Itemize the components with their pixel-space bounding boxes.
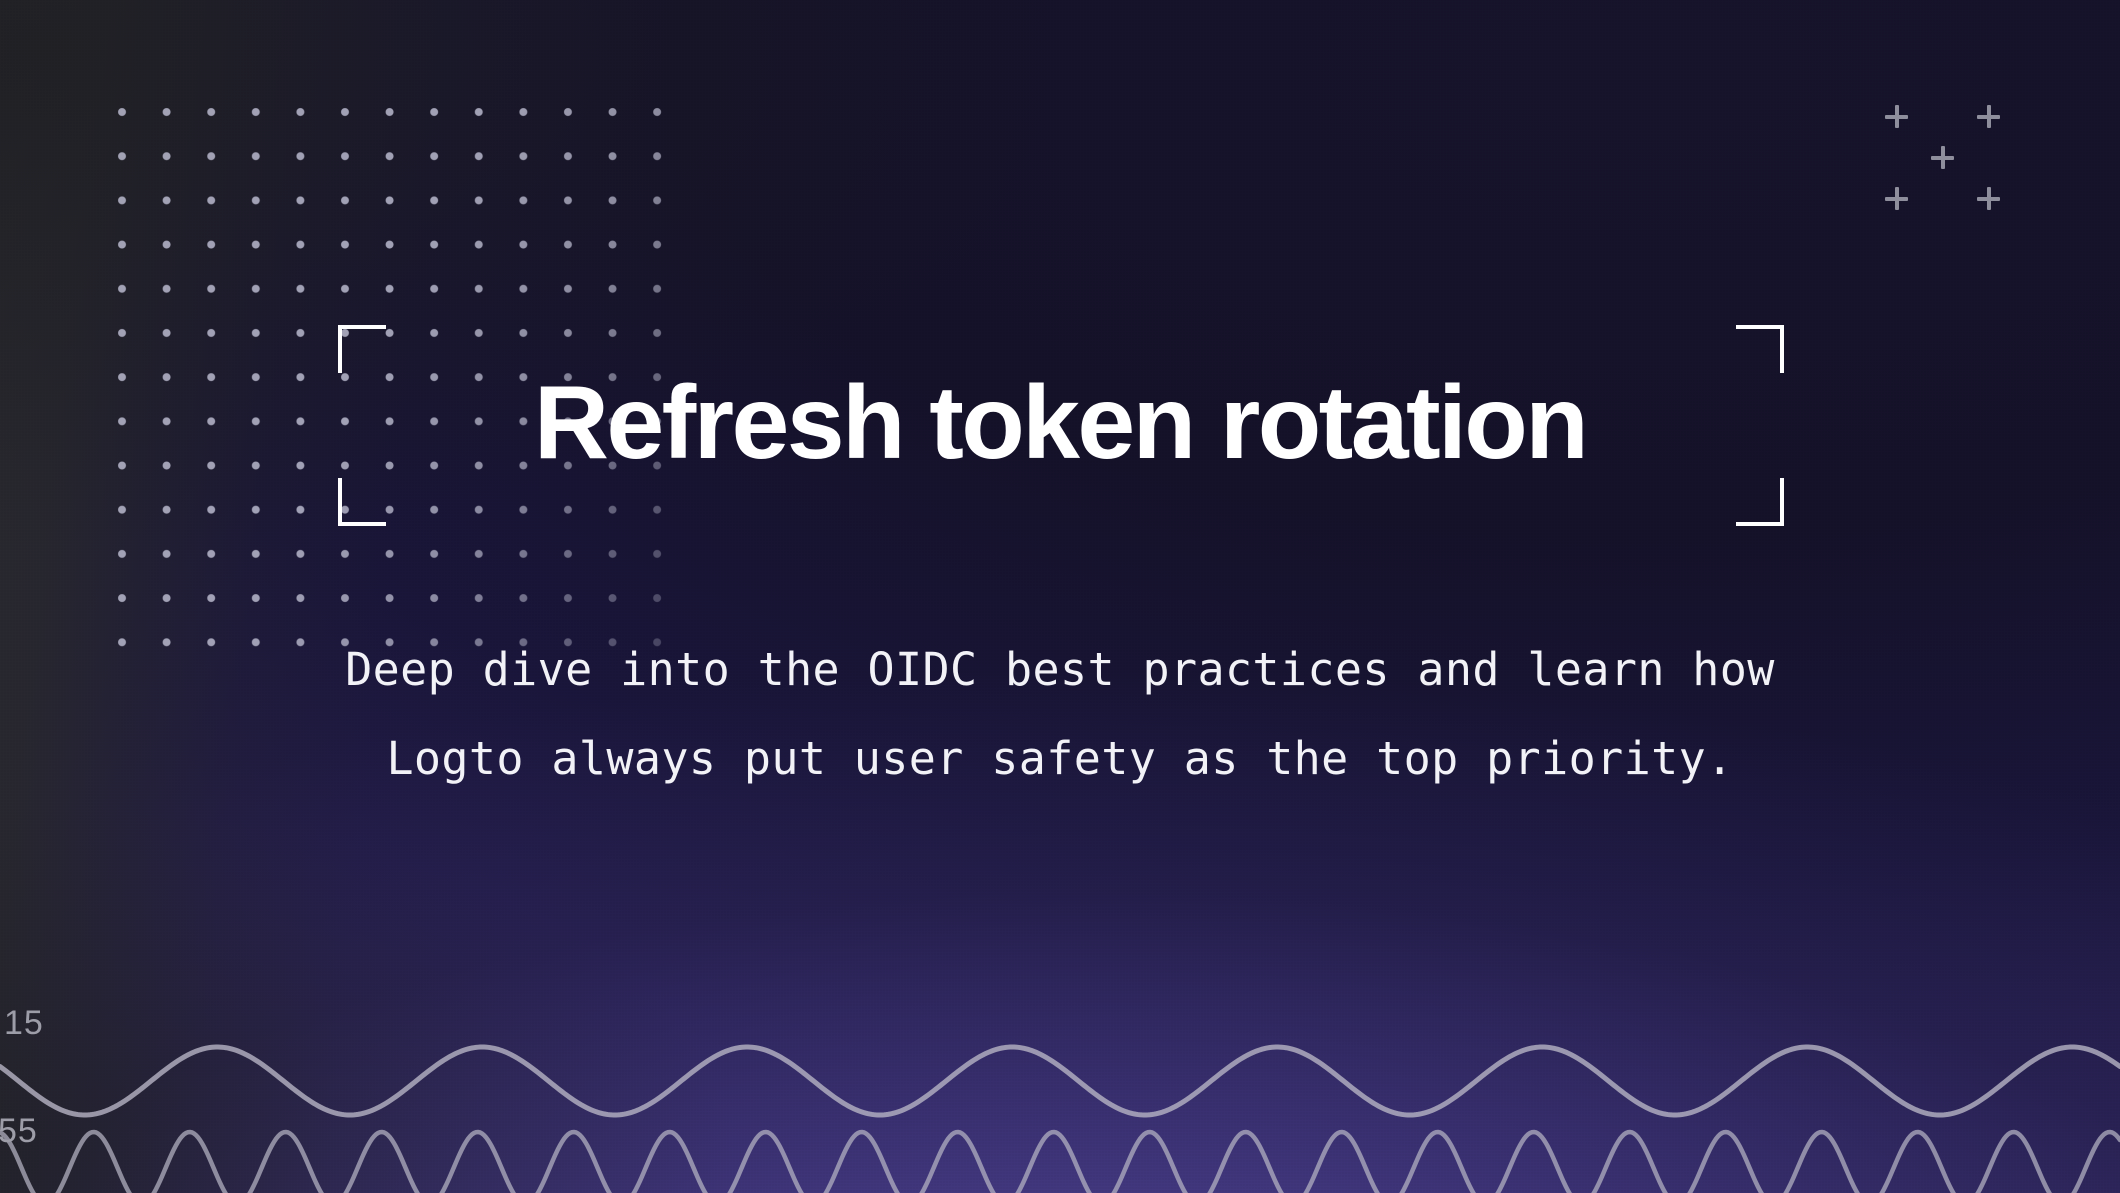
bracket-top-right-icon	[1736, 325, 1784, 373]
plus-icon-bottom-right	[1977, 187, 2000, 210]
hero-title: Refresh token rotation	[0, 367, 2120, 479]
hero-subtitle: Deep dive into the OIDC best practices a…	[160, 625, 1960, 803]
plus-icon-bottom-left	[1885, 187, 1908, 210]
wave-fast-path	[0, 1132, 2120, 1193]
wave-slow-path	[0, 1047, 2120, 1115]
plus-icon-top-left	[1885, 105, 1908, 128]
wave-decoration	[0, 863, 2120, 1193]
bracket-top-left-icon	[338, 325, 386, 373]
bracket-bottom-left-icon	[338, 478, 386, 526]
bracket-bottom-right-icon	[1736, 478, 1784, 526]
wave-label-lower: 55	[0, 1112, 38, 1151]
wave-label-upper: 15	[4, 1004, 44, 1043]
plus-mark-cluster	[1885, 105, 2020, 220]
plus-icon-center	[1931, 146, 1954, 169]
hero-banner: Refresh token rotation Deep dive into th…	[0, 0, 2120, 1193]
plus-icon-top-right	[1977, 105, 2000, 128]
